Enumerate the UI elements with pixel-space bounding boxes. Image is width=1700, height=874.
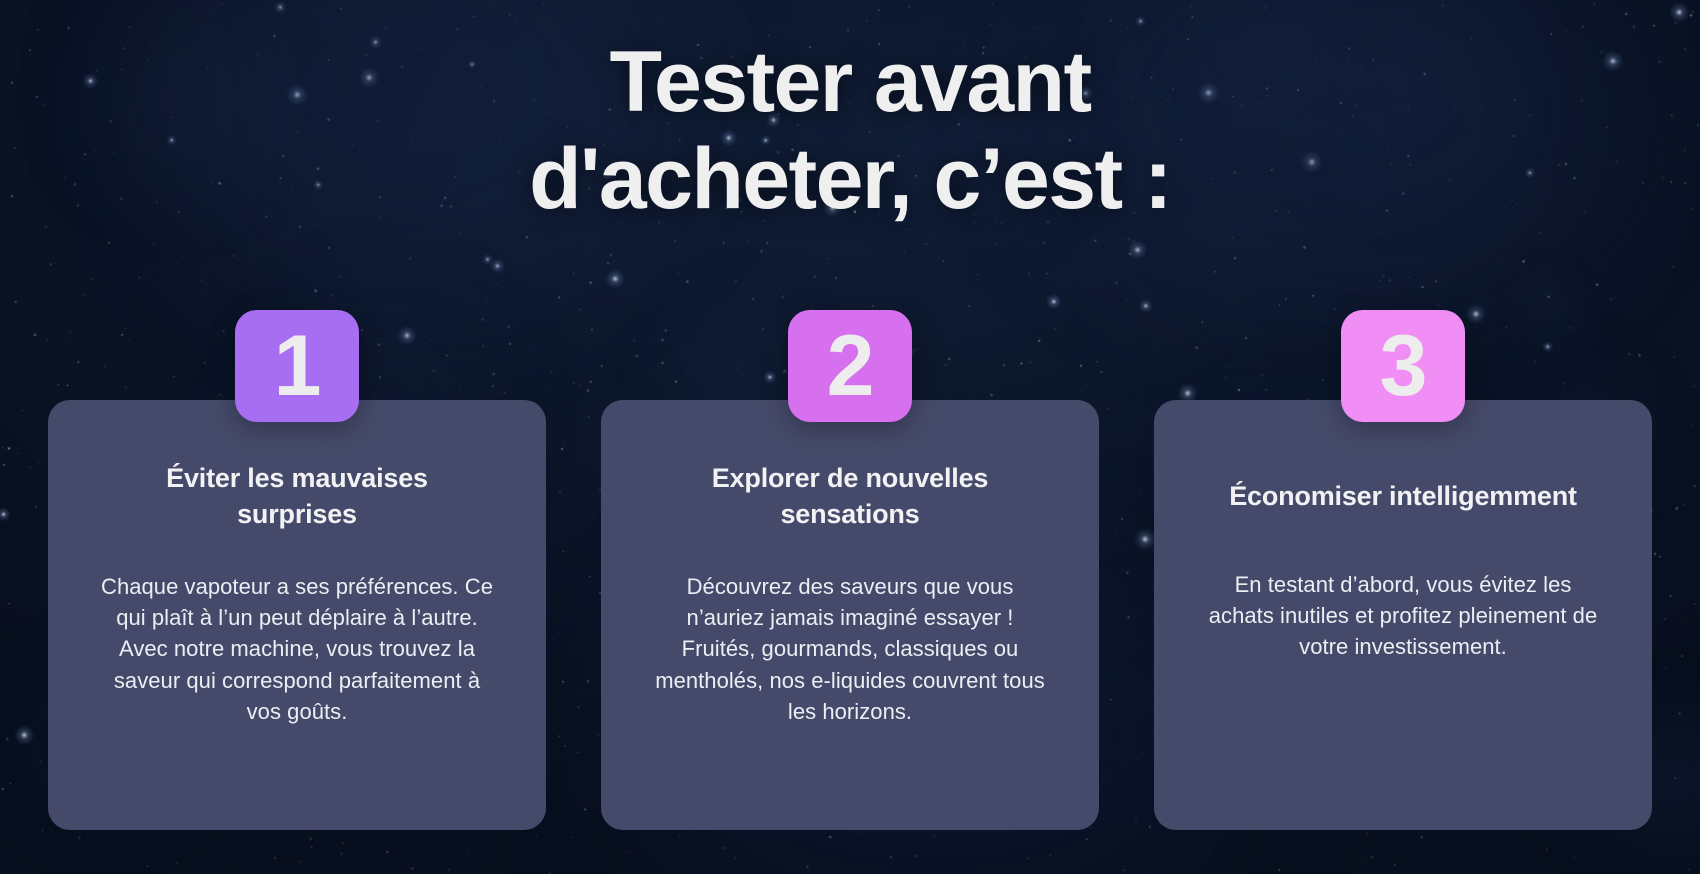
benefit-card-list: 1 Éviter les mauvaises surprises Chaque … <box>48 400 1652 830</box>
page-root: Tester avant d'acheter, c’est : 1 Éviter… <box>0 0 1700 874</box>
benefit-card-title: Explorer de nouvelles sensations <box>700 461 1000 533</box>
step-number-badge: 1 <box>235 310 359 422</box>
step-number-label: 3 <box>1380 323 1427 409</box>
benefit-card-title: Économiser intelligemment <box>1229 479 1577 515</box>
step-number-badge: 2 <box>788 310 912 422</box>
benefit-card: 1 Éviter les mauvaises surprises Chaque … <box>48 400 546 830</box>
benefit-card: 3 Économiser intelligemment En testant d… <box>1154 400 1652 830</box>
benefit-card-body: Chaque vapoteur a ses préférences. Ce qu… <box>97 571 497 727</box>
benefit-card-title: Éviter les mauvaises surprises <box>147 461 447 533</box>
benefit-card-body: En testant d’abord, vous évitez les acha… <box>1203 569 1603 663</box>
step-number-badge: 3 <box>1341 310 1465 422</box>
page-title-line-2: d'acheter, c’est : <box>0 131 1700 228</box>
step-number-label: 2 <box>827 323 874 409</box>
benefit-card-body: Découvrez des saveurs que vous n’auriez … <box>650 571 1050 727</box>
step-number-label: 1 <box>274 323 321 409</box>
benefit-card: 2 Explorer de nouvelles sensations Décou… <box>601 400 1099 830</box>
page-title-line-1: Tester avant <box>0 34 1700 131</box>
page-title: Tester avant d'acheter, c’est : <box>0 34 1700 228</box>
